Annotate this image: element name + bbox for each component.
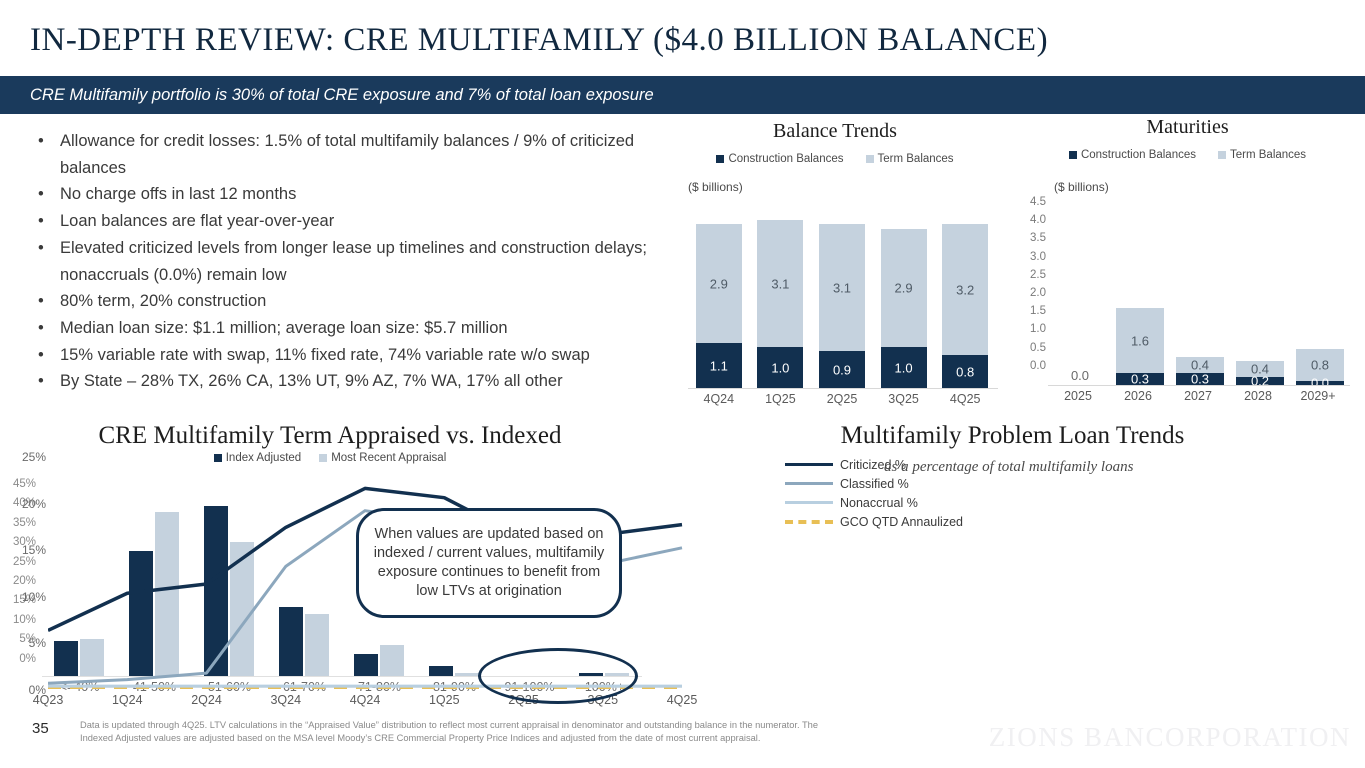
brand-logo: ZIONS BANCORPORATION <box>989 722 1351 753</box>
bullet-item: •15% variable rate with swap, 11% fixed … <box>32 342 677 369</box>
axis-units-balance-trends: ($ billions) <box>688 180 743 194</box>
bullet-text: Elevated criticized levels from longer l… <box>60 235 677 288</box>
x-axis-label: 2Q25 <box>813 392 871 406</box>
bullet-marker: • <box>32 181 60 208</box>
legend-line-4 <box>785 520 833 524</box>
bullet-marker: • <box>32 208 60 235</box>
x-axis-label: 2029+ <box>1290 389 1346 403</box>
bar-segment-construction: 1.0 <box>881 347 927 388</box>
legend-swatch-construction <box>716 155 724 163</box>
x-axis-label: 4Q24 <box>332 693 398 707</box>
y-axis-tick: 3.0 <box>1010 251 1046 269</box>
bar-stack: 2.91.0 <box>881 229 927 388</box>
legend-maturities: Construction Balances Term Balances <box>1010 149 1365 161</box>
axis-baseline-balance-trends <box>688 388 998 389</box>
legend-label: Classified % <box>840 477 909 491</box>
x-axis-label: 1Q24 <box>94 693 160 707</box>
plot-area-maturities: 0.01.60.30.40.30.40.20.80.0 <box>1050 203 1350 385</box>
axis-baseline-maturities <box>1048 385 1350 386</box>
x-axis-label: 4Q25 <box>936 392 994 406</box>
legend-item-term: Term Balances <box>866 153 954 165</box>
bullet-text: Loan balances are flat year-over-year <box>60 208 677 235</box>
x-axis-label: 4Q23 <box>15 693 81 707</box>
legend-line-3 <box>785 501 833 504</box>
bullet-marker: • <box>32 368 60 395</box>
legend-label-term: Term Balances <box>878 153 954 165</box>
x-axis-label: 3Q24 <box>253 693 319 707</box>
x-axis-label: 1Q25 <box>751 392 809 406</box>
bar-segment-construction: 0.9 <box>819 351 865 388</box>
bar-segment-term: 3.1 <box>819 224 865 351</box>
callout-box: When values are updated based on indexed… <box>356 508 622 618</box>
bar-segment-term: 0.4 <box>1176 357 1224 373</box>
legend-item: GCO QTD Annaulized <box>785 513 963 532</box>
bar-stack: 1.60.3 <box>1116 308 1164 385</box>
page-title: IN-DEPTH REVIEW: CRE MULTIFAMILY ($4.0 B… <box>30 22 1048 59</box>
x-axis-label: 1Q25 <box>411 693 477 707</box>
bar-value-construction: 1.0 <box>881 360 927 375</box>
bar-segment-term: 2.9 <box>881 229 927 348</box>
x-axis-label: 2028 <box>1230 389 1286 403</box>
highlight-ellipse <box>478 648 638 704</box>
y-axis-tick: 0.0 <box>1010 360 1046 378</box>
bar-value-term: 3.1 <box>757 276 803 291</box>
x-axis-label: 2027 <box>1170 389 1226 403</box>
bar-stack: 0.40.3 <box>1176 357 1224 385</box>
bar-value-term: 3.1 <box>819 280 865 295</box>
legend-item: Nonaccrual % <box>785 493 963 512</box>
bar-stack: 0.40.2 <box>1236 361 1284 385</box>
bar-value-term: 0.8 <box>1296 357 1344 372</box>
x-axis-labels-balance-trends: 4Q241Q252Q253Q254Q25 <box>688 392 996 412</box>
y-axis-tick: 3.5 <box>1010 232 1046 250</box>
legend-label: Nonaccrual % <box>840 496 918 510</box>
legend-swatch-term <box>866 155 874 163</box>
bullet-marker: • <box>32 128 60 181</box>
bullet-text: By State – 28% TX, 26% CA, 13% UT, 9% AZ… <box>60 368 677 395</box>
bullet-text: 80% term, 20% construction <box>60 288 677 315</box>
plot-area-balance-trends: 2.91.13.11.03.10.92.91.03.20.8 <box>688 204 996 388</box>
chart-title-problem-loans: Multifamily Problem Loan Trends <box>660 422 1365 450</box>
legend-label-term: Term Balances <box>1230 149 1306 161</box>
bar-segment-construction: 0.3 <box>1116 373 1164 385</box>
banner-subtitle: CRE Multifamily portfolio is 30% of tota… <box>30 86 654 105</box>
callout-text: When values are updated based on indexed… <box>359 525 619 601</box>
legend-label-construction: Construction Balances <box>728 153 843 165</box>
legend-label-construction: Construction Balances <box>1081 149 1196 161</box>
legend-item: Classified % <box>785 474 963 493</box>
y-axis-tick: 4.5 <box>1010 196 1046 214</box>
bar-segment-construction: 0.2 <box>1236 377 1284 385</box>
legend-line-2 <box>785 482 833 485</box>
x-axis-label: 2Q24 <box>174 693 240 707</box>
legend-balance-trends: Construction Balances Term Balances <box>660 153 1010 165</box>
chart-title-balance-trends: Balance Trends <box>660 120 1010 143</box>
bar-stack: 3.11.0 <box>757 220 803 388</box>
bullet-marker: • <box>32 288 60 315</box>
legend-item-construction: Construction Balances <box>716 153 843 165</box>
bar-segment-term: 3.2 <box>942 224 988 355</box>
y-axis-tick: 1.0 <box>1010 323 1046 341</box>
y-axis-labels-maturities: 4.54.03.53.02.52.01.51.00.50.0 <box>1010 196 1046 378</box>
x-axis-label: 4Q25 <box>649 693 715 707</box>
x-axis-label: 3Q25 <box>875 392 933 406</box>
bar-segment-term: 1.6 <box>1116 308 1164 373</box>
bullet-text: No charge offs in last 12 months <box>60 181 677 208</box>
bar-stack: 0.80.0 <box>1296 349 1344 385</box>
chart-maturities: Maturities Construction Balances Term Ba… <box>1010 118 1365 403</box>
y-axis-tick: 5% <box>8 636 46 683</box>
bar-segment-construction: 0.8 <box>942 355 988 388</box>
bar-value-construction: 1.1 <box>696 358 742 373</box>
bar-value-term: 3.2 <box>942 282 988 297</box>
bar-value-term: 0.4 <box>1176 357 1224 372</box>
bar-value-construction: 0.8 <box>942 364 988 379</box>
bullet-text: 15% variable rate with swap, 11% fixed r… <box>60 342 677 369</box>
bullet-text: Median loan size: $1.1 million; average … <box>60 315 677 342</box>
legend-swatch-construction <box>1069 151 1077 159</box>
bullet-item: •Allowance for credit losses: 1.5% of to… <box>32 128 677 181</box>
bullet-marker: • <box>32 315 60 342</box>
legend-swatch-term <box>1218 151 1226 159</box>
y-axis-tick: 2.5 <box>1010 269 1046 287</box>
bar-segment-construction: 0.3 <box>1176 373 1224 385</box>
y-axis-tick: 2.0 <box>1010 287 1046 305</box>
y-axis-labels-problem-loans: 25%20%15%10%5%0% <box>8 450 46 729</box>
y-axis-tick: 25% <box>8 450 46 497</box>
y-axis-tick: 20% <box>8 497 46 544</box>
x-axis-label: 2025 <box>1050 389 1106 403</box>
y-axis-tick: 4.0 <box>1010 214 1046 232</box>
bar-segment-construction: 1.1 <box>696 343 742 388</box>
bar-stack: 3.10.9 <box>819 224 865 388</box>
bar-value-term: 2.9 <box>696 276 742 291</box>
bar-value-construction: 0.9 <box>819 362 865 377</box>
bullet-text: Allowance for credit losses: 1.5% of tot… <box>60 128 677 181</box>
legend-item-term: Term Balances <box>1218 149 1306 161</box>
axis-units-maturities: ($ billions) <box>1054 180 1109 194</box>
chart-title-maturities: Maturities <box>1010 116 1365 139</box>
bullet-item: •Median loan size: $1.1 million; average… <box>32 315 677 342</box>
y-axis-tick: 0.5 <box>1010 342 1046 360</box>
bullet-item: •Loan balances are flat year-over-year <box>32 208 677 235</box>
bar-stack: 3.20.8 <box>942 224 988 388</box>
chart-title-appraised: CRE Multifamily Term Appraised vs. Index… <box>0 422 660 450</box>
legend-label: GCO QTD Annaulized <box>840 515 963 529</box>
bullet-item: •By State – 28% TX, 26% CA, 13% UT, 9% A… <box>32 368 677 395</box>
bar-value-construction: 0.2 <box>1236 373 1284 388</box>
bullet-marker: • <box>32 235 60 288</box>
bullet-item: •Elevated criticized levels from longer … <box>32 235 677 288</box>
bullet-item: •80% term, 20% construction <box>32 288 677 315</box>
bullet-marker: • <box>32 342 60 369</box>
chart-subtitle-problem-loans: as a percentage of total multifamily loa… <box>884 459 1133 476</box>
bar-value-zero: 0.0 <box>1056 368 1104 383</box>
chart-balance-trends: Balance Trends Construction Balances Ter… <box>660 118 1010 403</box>
bar-segment-term: 3.1 <box>757 220 803 347</box>
x-axis-label: 2026 <box>1110 389 1166 403</box>
page-number: 35 <box>32 720 49 737</box>
footnote: Data is updated through 4Q25. LTV calcul… <box>80 719 840 744</box>
bar-value-construction: 1.0 <box>757 360 803 375</box>
bar-stack: 2.91.1 <box>696 224 742 388</box>
y-axis-tick: 15% <box>8 543 46 590</box>
bar-segment-construction: 1.0 <box>757 347 803 388</box>
key-points-list: •Allowance for credit losses: 1.5% of to… <box>32 128 677 395</box>
y-axis-tick: 10% <box>8 590 46 637</box>
bar-segment-term: 2.9 <box>696 224 742 343</box>
bar-value-term: 2.9 <box>881 280 927 295</box>
bullet-item: •No charge offs in last 12 months <box>32 181 677 208</box>
y-axis-tick: 1.5 <box>1010 305 1046 323</box>
legend-line-1 <box>785 463 833 467</box>
bar-value-term: 1.6 <box>1116 333 1164 348</box>
legend-item-construction: Construction Balances <box>1069 149 1196 161</box>
x-axis-label: 4Q24 <box>690 392 748 406</box>
